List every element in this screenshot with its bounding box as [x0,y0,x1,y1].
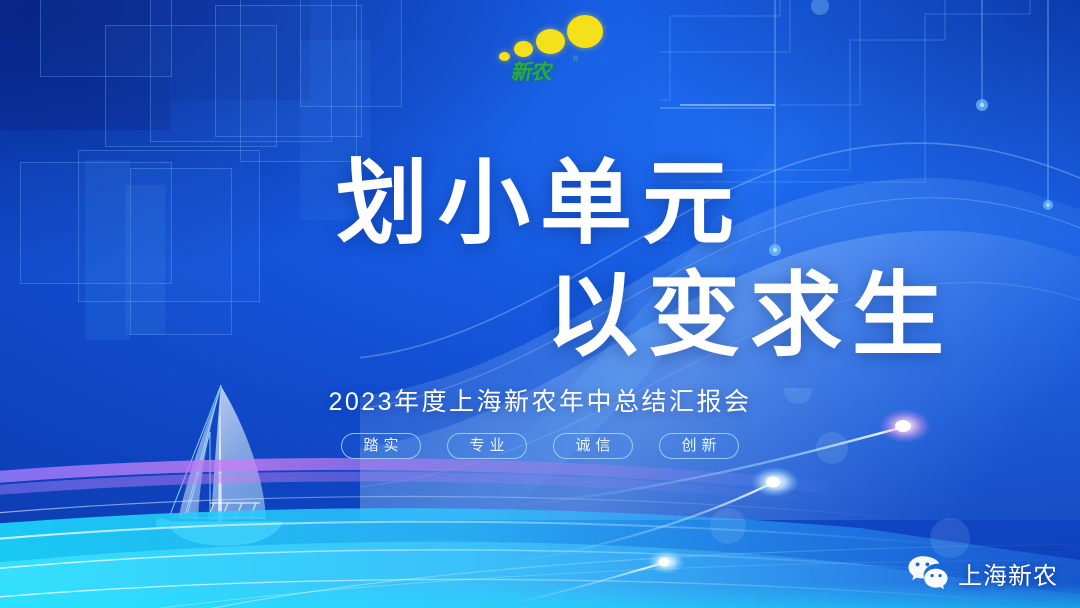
badge-tashi: 踏实 [341,433,421,459]
poster-content: 划小单元 以变求生 2023年度上海新农年中总结汇报会 踏实 专业 诚信 创新 [0,0,1080,608]
badge-chengxin: 诚信 [553,433,633,459]
event-subtitle: 2023年度上海新农年中总结汇报会 [0,382,1080,418]
wechat-icon [907,554,949,592]
headline-line-2: 以变求生 [0,270,1080,362]
badge-zhuanye: 专业 [447,433,527,459]
poster-canvas: 新农 ® 划小单元 以变求生 2023年度上海新农年中总结汇报会 踏实 专业 诚… [0,0,1080,608]
headline-line-1: 划小单元 [0,158,1080,250]
badge-chuangxin: 创新 [659,433,739,459]
value-badges: 踏实 专业 诚信 创新 [0,433,1080,459]
wechat-account-name: 上海新农 [958,556,1058,591]
wechat-account: 上海新农 [907,554,1058,592]
